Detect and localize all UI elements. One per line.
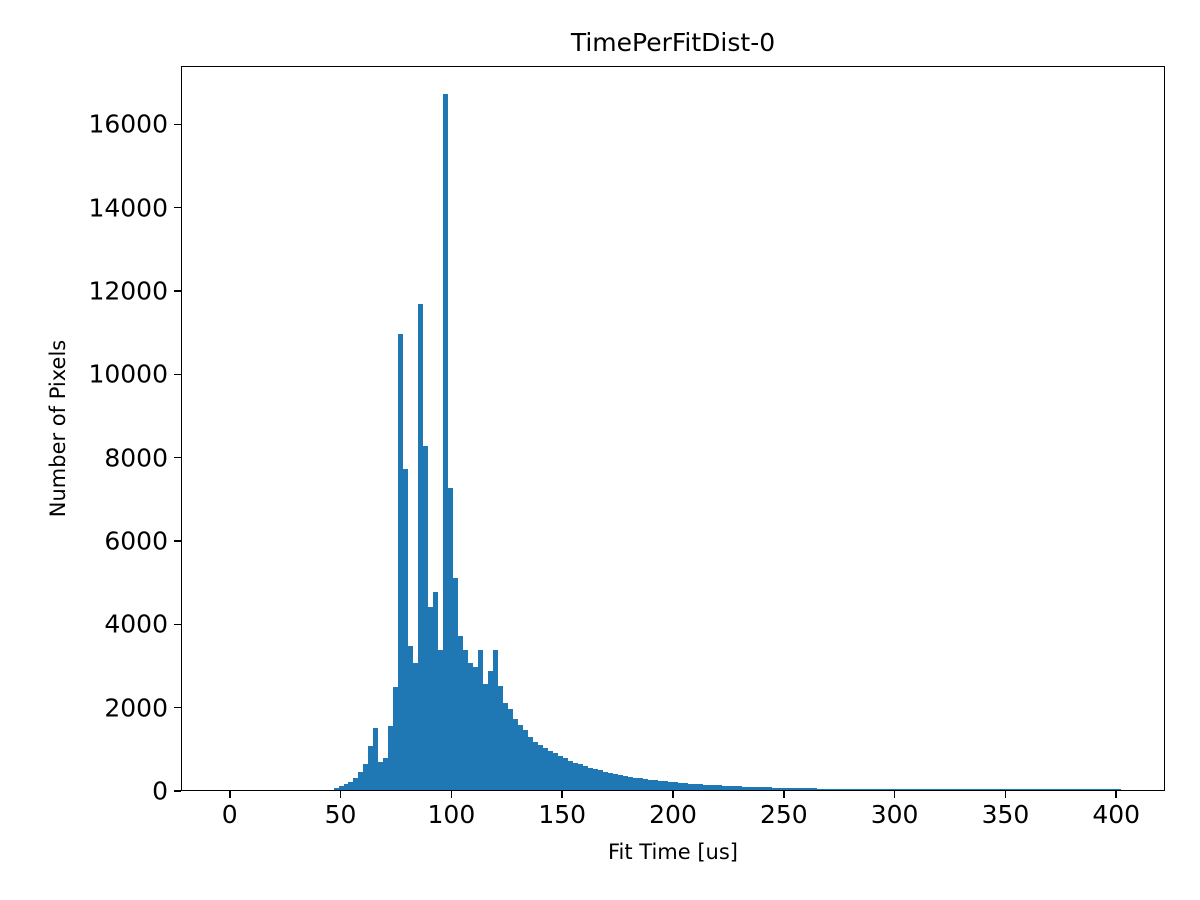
x-tick-mark [451,791,453,798]
y-tick-mark [174,290,181,292]
x-tick-mark [1115,791,1117,798]
x-tick-mark [1005,791,1007,798]
x-tick-mark [561,791,563,798]
y-tick-label: 14000 [88,193,168,222]
x-tick-label: 250 [760,800,808,829]
y-tick-mark [174,624,181,626]
y-tick-label: 6000 [104,527,168,556]
y-tick-label: 4000 [104,610,168,639]
plot-area [181,66,1165,791]
y-tick-label: 8000 [104,443,168,472]
x-tick-label: 400 [1092,800,1140,829]
y-tick-mark [174,790,181,792]
x-tick-mark [340,791,342,798]
chart-title: TimePerFitDist-0 [0,28,1200,57]
y-tick-label: 0 [152,777,168,806]
y-tick-label: 16000 [88,110,168,139]
x-axis-label: Fit Time [us] [181,840,1165,864]
x-tick-label: 50 [325,800,357,829]
y-axis-label: Number of Pixels [46,66,70,791]
y-tick-mark [174,374,181,376]
x-tick-label: 150 [538,800,586,829]
y-tick-mark [174,457,181,459]
y-tick-mark [174,124,181,126]
x-tick-label: 350 [982,800,1030,829]
y-tick-label: 10000 [88,360,168,389]
chart-figure: TimePerFitDist-0 Fit Time [us] Number of… [0,0,1200,900]
histogram-bars [182,67,1164,790]
x-tick-label: 100 [428,800,476,829]
x-tick-label: 300 [871,800,919,829]
x-tick-mark [783,791,785,798]
y-tick-mark [174,540,181,542]
y-tick-label: 12000 [88,277,168,306]
x-tick-mark [672,791,674,798]
x-tick-mark [894,791,896,798]
histogram-bar [1116,789,1121,791]
x-tick-label: 0 [222,800,238,829]
x-tick-mark [229,791,231,798]
y-tick-label: 2000 [104,693,168,722]
y-tick-mark [174,207,181,209]
y-tick-mark [174,707,181,709]
x-tick-label: 200 [649,800,697,829]
